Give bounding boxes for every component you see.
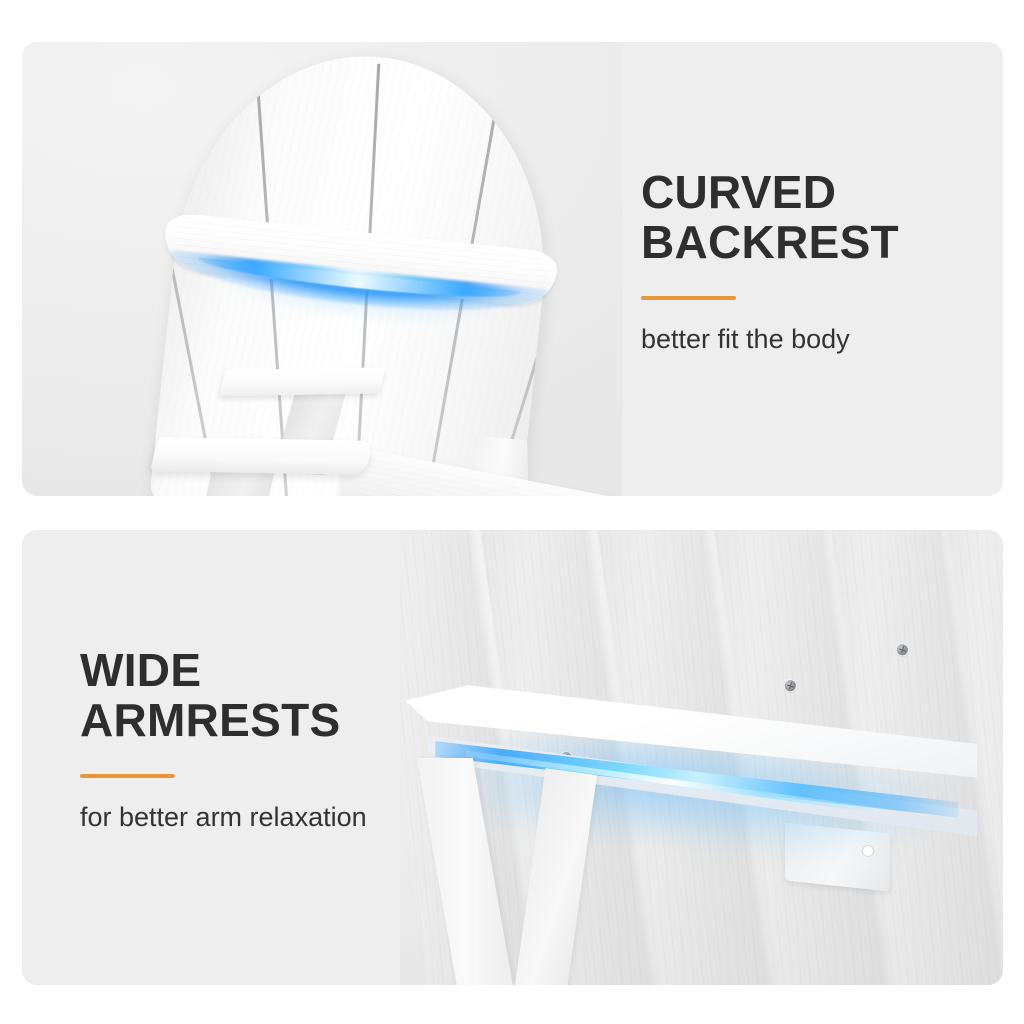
product-feature-page: CURVED BACKREST better fit the body: [0, 0, 1024, 1024]
accent-rule: [641, 296, 736, 300]
armrest-illustration: [405, 650, 985, 970]
accent-rule: [80, 774, 175, 778]
feature-panel-curved-backrest: CURVED BACKREST better fit the body: [22, 42, 1003, 496]
feature-text-wide-armrests: WIDE ARMRESTS for better arm relaxation: [80, 645, 440, 834]
armrest-lower-left: [150, 437, 373, 475]
feature-heading-wide-armrests: WIDE ARMRESTS: [80, 645, 440, 745]
feature-panel-wide-armrests: WIDE ARMRESTS for better arm relaxation: [22, 530, 1003, 985]
armrest-upper-left: [219, 367, 385, 396]
bracket-bolt: [863, 846, 873, 856]
feature-subtitle-curved-backrest: better fit the body: [641, 322, 971, 356]
feature-text-curved-backrest: CURVED BACKREST better fit the body: [641, 167, 971, 356]
feature-subtitle-wide-armrests: for better arm relaxation: [80, 800, 440, 834]
feature-heading-curved-backrest: CURVED BACKREST: [641, 167, 971, 267]
product-photo-wide-armrests: [400, 530, 1003, 985]
chair-backrest-illustration: [148, 42, 565, 496]
product-photo-curved-backrest: [22, 42, 622, 496]
